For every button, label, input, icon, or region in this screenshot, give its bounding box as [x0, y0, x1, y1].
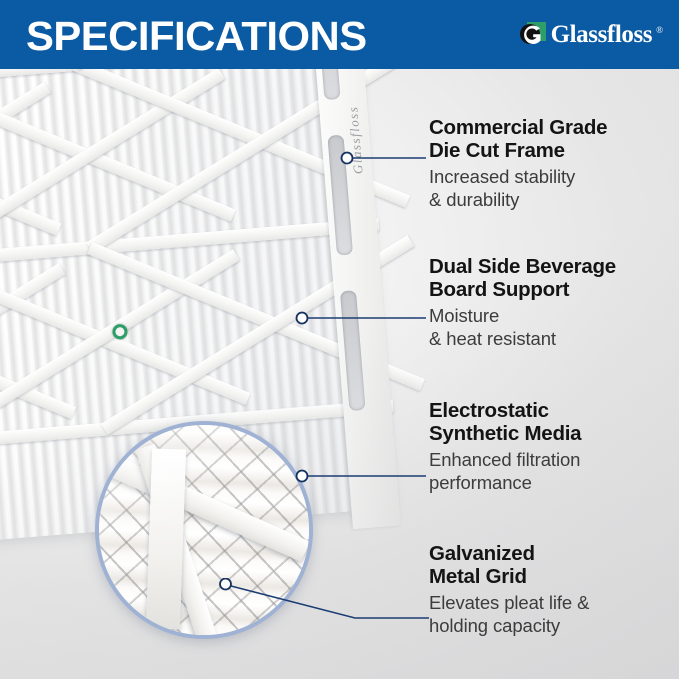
frame-die-cut-slot [315, 69, 341, 100]
page-title: SPECIFICATIONS [26, 14, 367, 58]
specification-infographic: SPECIFICATIONS Glassfloss ® [0, 0, 679, 679]
magnified-grid-strut [146, 448, 186, 629]
callout-subtitle: Enhanced filtration performance [429, 448, 673, 494]
callout-subtitle: Moisture & heat resistant [429, 304, 677, 350]
callout-subtitle: Increased stability & durability [429, 165, 673, 211]
callout-electrostatic-media: Electrostatic Synthetic Media Enhanced f… [429, 400, 673, 494]
callout-metal-grid: Galvanized Metal Grid Elevates pleat lif… [429, 543, 673, 637]
leader-line-metal-grid [218, 578, 433, 628]
callout-die-cut-frame: Commercial Grade Die Cut Frame Increased… [429, 117, 673, 211]
callout-title: Electrostatic Synthetic Media [429, 400, 673, 445]
callout-beverage-board: Dual Side Beverage Board Support Moistur… [429, 256, 677, 350]
header-bar: SPECIFICATIONS Glassfloss ® [0, 0, 679, 69]
callout-subtitle: Elevates pleat life & holding capacity [429, 591, 673, 637]
callout-title: Commercial Grade Die Cut Frame [429, 117, 673, 162]
leader-line-electrostatic-media [295, 466, 430, 486]
brand-wordmark: Glassfloss [551, 21, 653, 48]
leader-line-beverage-board [295, 308, 430, 328]
callout-title: Galvanized Metal Grid [429, 543, 673, 588]
brand-logo: Glassfloss ® [519, 21, 663, 48]
registered-trademark-icon: ® [656, 25, 663, 35]
callout-title: Dual Side Beverage Board Support [429, 256, 677, 301]
leader-line-die-cut-frame [340, 148, 430, 168]
glassfloss-g-swoosh-icon [519, 21, 547, 48]
